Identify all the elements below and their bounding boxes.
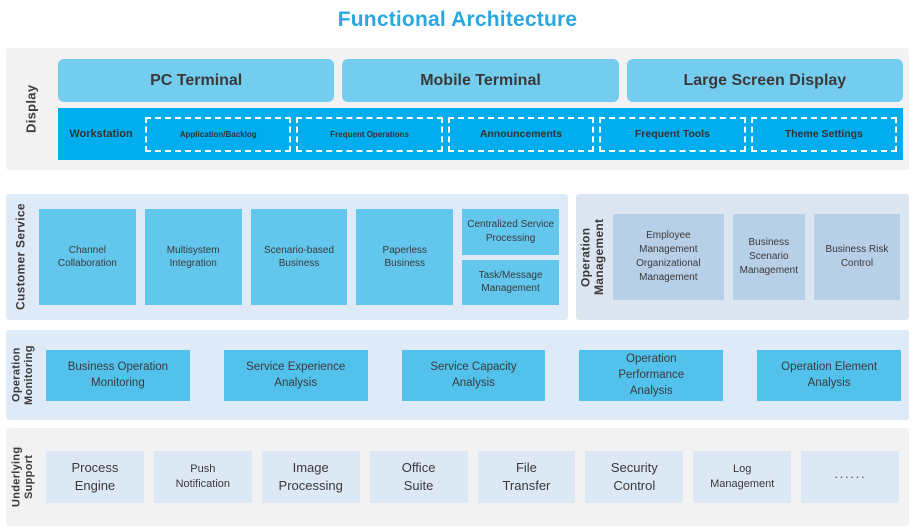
terminal-row: PC Terminal Mobile Terminal Large Screen… — [58, 59, 903, 102]
om-box-business-scenario-management[interactable]: BusinessScenarioManagement — [733, 214, 805, 300]
mon-box-operation-element-analysis[interactable]: Operation ElementAnalysis — [757, 350, 901, 401]
operation-monitoring-content: Business OperationMonitoring Service Exp… — [40, 330, 909, 420]
workstation-label: Workstation — [62, 128, 140, 140]
operation-monitoring-label: OperationMonitoring — [6, 330, 40, 420]
om-box-employee-management[interactable]: EmployeeManagementOrganizationalManageme… — [613, 214, 724, 300]
sup-box-security-control[interactable]: SecurityControl — [585, 451, 683, 503]
operation-management-band: OperationManagement EmployeeManagementOr… — [576, 194, 909, 320]
display-layer-label: Display — [6, 48, 58, 170]
sup-box-file-transfer[interactable]: FileTransfer — [478, 451, 576, 503]
workstation-item-frequent-operations[interactable]: Frequent Operations — [296, 117, 442, 152]
customer-service-content: ChannelCollaboration MultisystemIntegrat… — [36, 194, 568, 320]
workstation-item-announcements[interactable]: Announcements — [448, 117, 594, 152]
workstation-row: Workstation Application/Backlog Frequent… — [58, 108, 903, 160]
operation-monitoring-band: OperationMonitoring Business OperationMo… — [6, 330, 909, 420]
mon-box-service-experience-analysis[interactable]: Service ExperienceAnalysis — [224, 350, 368, 401]
cs-box-multisystem-integration[interactable]: MultisystemIntegration — [145, 209, 242, 305]
sup-box-office-suite[interactable]: OfficeSuite — [370, 451, 468, 503]
underlying-support-label: UnderlyingSupport — [6, 428, 40, 526]
cs-box-channel-collaboration[interactable]: ChannelCollaboration — [39, 209, 136, 305]
customer-service-band: Customer Service ChannelCollaboration Mu… — [6, 194, 568, 320]
terminal-box-mobile[interactable]: Mobile Terminal — [342, 59, 618, 102]
cs-box-paperless-business[interactable]: PaperlessBusiness — [356, 209, 453, 305]
cs-stacked-group: Centralized ServiceProcessing Task/Messa… — [462, 209, 559, 305]
sup-box-log-management[interactable]: LogManagement — [693, 451, 791, 503]
workstation-item-application-backlog[interactable]: Application/Backlog — [145, 117, 291, 152]
sup-box-process-engine[interactable]: ProcessEngine — [46, 451, 144, 503]
customer-service-label: Customer Service — [6, 194, 36, 320]
cs-box-centralized-service-processing[interactable]: Centralized ServiceProcessing — [462, 209, 559, 255]
display-layer-content: PC Terminal Mobile Terminal Large Screen… — [58, 48, 909, 170]
display-layer-band: Display PC Terminal Mobile Terminal Larg… — [6, 48, 909, 170]
cs-box-task-message-management[interactable]: Task/MessageManagement — [462, 260, 559, 306]
workstation-item-theme-settings[interactable]: Theme Settings — [751, 117, 897, 152]
underlying-support-band: UnderlyingSupport ProcessEngine PushNoti… — [6, 428, 909, 526]
functional-architecture-diagram: Functional Architecture Display PC Termi… — [0, 0, 915, 532]
operation-management-content: EmployeeManagementOrganizationalManageme… — [610, 194, 909, 320]
sup-box-push-notification[interactable]: PushNotification — [154, 451, 252, 503]
mon-box-operation-performance-analysis[interactable]: OperationPerformanceAnalysis — [579, 350, 723, 401]
operation-management-label: OperationManagement — [576, 194, 610, 320]
mon-box-service-capacity-analysis[interactable]: Service CapacityAnalysis — [402, 350, 546, 401]
om-box-business-risk-control[interactable]: Business RiskControl — [814, 214, 900, 300]
cs-box-scenario-based-business[interactable]: Scenario-basedBusiness — [251, 209, 348, 305]
page-title: Functional Architecture — [0, 8, 915, 32]
terminal-box-large-screen[interactable]: Large Screen Display — [627, 59, 903, 102]
mon-box-business-operation-monitoring[interactable]: Business OperationMonitoring — [46, 350, 190, 401]
underlying-support-content: ProcessEngine PushNotification ImageProc… — [40, 428, 909, 526]
terminal-box-pc[interactable]: PC Terminal — [58, 59, 334, 102]
workstation-item-frequent-tools[interactable]: Frequent Tools — [599, 117, 745, 152]
sup-box-image-processing[interactable]: ImageProcessing — [262, 451, 360, 503]
sup-box-more-ellipsis: ······ — [801, 451, 899, 503]
